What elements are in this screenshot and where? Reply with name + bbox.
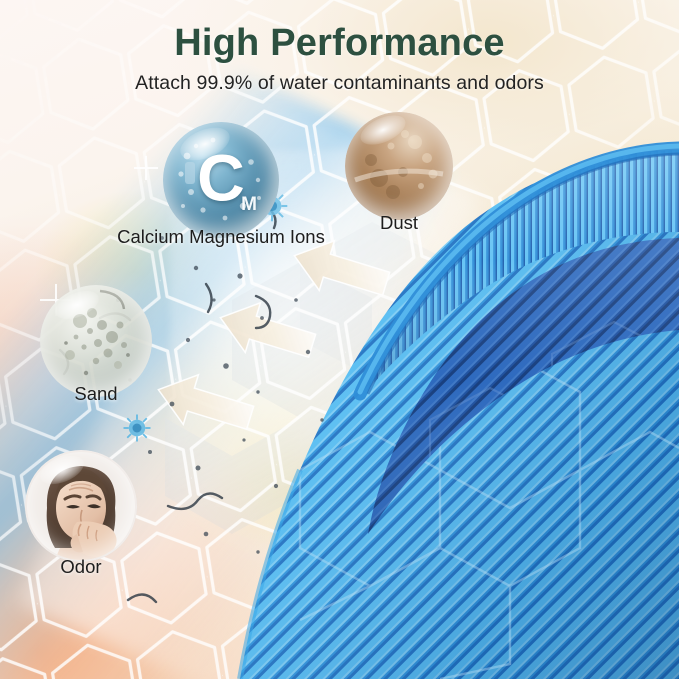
bubble-dust	[345, 112, 453, 220]
bubble-calcium-magnesium: C M	[163, 122, 279, 238]
bubble-label-dust: Dust	[339, 212, 459, 234]
bubble-label-odor: Odor	[31, 556, 131, 578]
product-feature-graphic: High Performance Attach 99.9% of water c…	[0, 0, 679, 679]
bubble-label-sand: Sand	[46, 383, 146, 405]
page-title: High Performance	[0, 22, 679, 65]
page-subtitle: Attach 99.9% of water contaminants and o…	[0, 72, 679, 95]
bubble-odor	[25, 450, 137, 562]
bubble-sand	[40, 285, 152, 397]
bubble-label-calcium-magnesium: Calcium Magnesium Ions	[100, 226, 342, 248]
